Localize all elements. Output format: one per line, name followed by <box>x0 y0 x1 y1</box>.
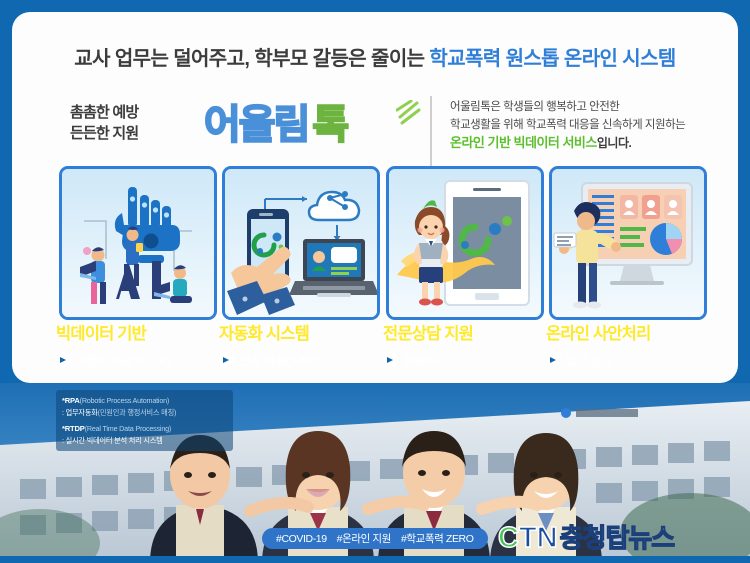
brand-description: 어울림톡은 학생들의 행복하고 안전한 학교생활을 위해 학교폭력 대응을 신속… <box>450 98 738 153</box>
sparkle-icon <box>396 100 422 126</box>
arrow-right-circle-icon <box>383 352 398 367</box>
bottom-frame-strip <box>0 556 750 563</box>
feature-label-bigdata: 빅데이터 기반 예방&대응(*RTDP) <box>56 324 231 369</box>
vertical-divider <box>430 96 432 166</box>
feature-label-automation: 자동화 시스템 신속 대응(*RPA) <box>219 324 394 369</box>
headline-plain: 교사 업무는 덜어주고, 학부모 갈등은 줄이는 <box>74 48 424 70</box>
description-line-1: 어울림톡은 학생들의 행복하고 안전한 <box>450 98 738 116</box>
feature-subtitle-row: 업무 경감 <box>546 350 721 369</box>
footnote-term: *RPA <box>62 396 80 405</box>
feature-subtitle: 신속 대응(*RPA) <box>239 350 320 369</box>
page-title: 교사 업무는 덜어주고, 학부모 갈등은 줄이는 학교폭력 원스톱 온라인 시스… <box>12 42 738 71</box>
feature-subtitle-row: 회복&치유 <box>383 350 558 369</box>
hashtag: #COVID-19 <box>276 533 327 545</box>
logo-text-green: 톡 <box>312 103 347 147</box>
feature-subtitle: 업무 경감 <box>566 350 612 369</box>
feature-title: 자동화 시스템 <box>219 324 394 344</box>
brand-row: 촘촘한 예방 든든한 지원 어울림톡 어울림톡은 학생들의 행복하고 안전한 학… <box>52 90 738 170</box>
headline-emphasis: 학교폭력 원스톱 온라인 시스템 <box>429 48 675 70</box>
arrow-right-circle-icon <box>219 352 234 367</box>
feature-subtitle: 예방&대응(*RTDP) <box>76 350 170 369</box>
watermark-c: C <box>498 521 519 555</box>
arrow-right-circle-icon <box>56 352 71 367</box>
ai-robot-hand-illustration <box>62 169 214 317</box>
arrow-right-circle-icon <box>546 352 561 367</box>
feature-title: 전문상담 지원 <box>383 324 558 344</box>
feature-card-automation[interactable] <box>222 166 380 320</box>
footnote-english: (Real Time Data Processing) <box>85 424 171 433</box>
feature-subtitle-row: 예방&대응(*RTDP) <box>56 350 231 369</box>
student-counseling-tablet-illustration <box>389 169 541 317</box>
brand-logo: 어울림톡 <box>204 94 347 156</box>
footnote-korean: : 실시간 빅데이터 분석 처리 시스템 <box>62 436 163 445</box>
hashtag: #학교폭력 ZERO <box>401 531 474 546</box>
feature-label-row: 빅데이터 기반 예방&대응(*RTDP) 자동화 시스템 신속 대응(*RPA)… <box>0 324 750 384</box>
slogan-line-1: 촘촘한 예방 <box>70 102 138 123</box>
footnote-english: (Robotic Process Automation) <box>80 396 169 405</box>
feature-card-counseling[interactable] <box>386 166 544 320</box>
phone-cloud-laptop-illustration <box>225 169 377 317</box>
hashtag: #온라인 지원 <box>337 531 391 546</box>
description-line-2: 학교생활을 위해 학교폭력 대응을 신속하게 지원하는 <box>450 116 738 134</box>
feature-card-bigdata[interactable] <box>59 166 217 320</box>
footnote-term: *RTDP <box>62 424 85 433</box>
feature-title: 온라인 사안처리 <box>546 324 721 344</box>
ctn-watermark: CTN충청탑뉴스 <box>498 521 674 555</box>
infographic-poster: 교사 업무는 덜어주고, 학부모 갈등은 줄이는 학교폭력 원스톱 온라인 시스… <box>0 0 750 563</box>
feature-title: 빅데이터 기반 <box>56 324 231 344</box>
feature-subtitle: 회복&치유 <box>403 350 454 369</box>
footnote-korean-paren: (민원인과 행정서비스 매칭) <box>98 408 177 417</box>
footnote-box: *RPA(Robotic Process Automation) : 업무자동화… <box>56 390 233 451</box>
feature-subtitle-row: 신속 대응(*RPA) <box>219 350 394 369</box>
feature-card-row <box>0 166 750 316</box>
feature-card-case-handling[interactable] <box>549 166 707 320</box>
footnote-korean: : 업무자동화 <box>62 408 98 417</box>
description-tail: 입니다. <box>597 136 631 150</box>
brand-slogan: 촘촘한 예방 든든한 지원 <box>70 102 138 144</box>
description-highlight: 온라인 기반 빅데이터 서비스 <box>450 135 597 150</box>
footnote-item: *RTDP(Real Time Data Processing) : 실시간 빅… <box>62 423 227 446</box>
slogan-line-2: 든든한 지원 <box>70 123 138 144</box>
dashboard-analytics-illustration <box>552 169 704 317</box>
footnote-item: *RPA(Robotic Process Automation) : 업무자동화… <box>62 395 227 418</box>
hashtag-bar: #COVID-19 #온라인 지원 #학교폭력 ZERO <box>262 528 488 549</box>
feature-label-case-handling: 온라인 사안처리 업무 경감 <box>546 324 721 369</box>
logo-text-blue: 어울림 <box>204 103 308 147</box>
watermark-korean: 충청탑뉴스 <box>560 521 675 555</box>
watermark-tn: TN <box>519 521 558 555</box>
feature-label-counseling: 전문상담 지원 회복&치유 <box>383 324 558 369</box>
